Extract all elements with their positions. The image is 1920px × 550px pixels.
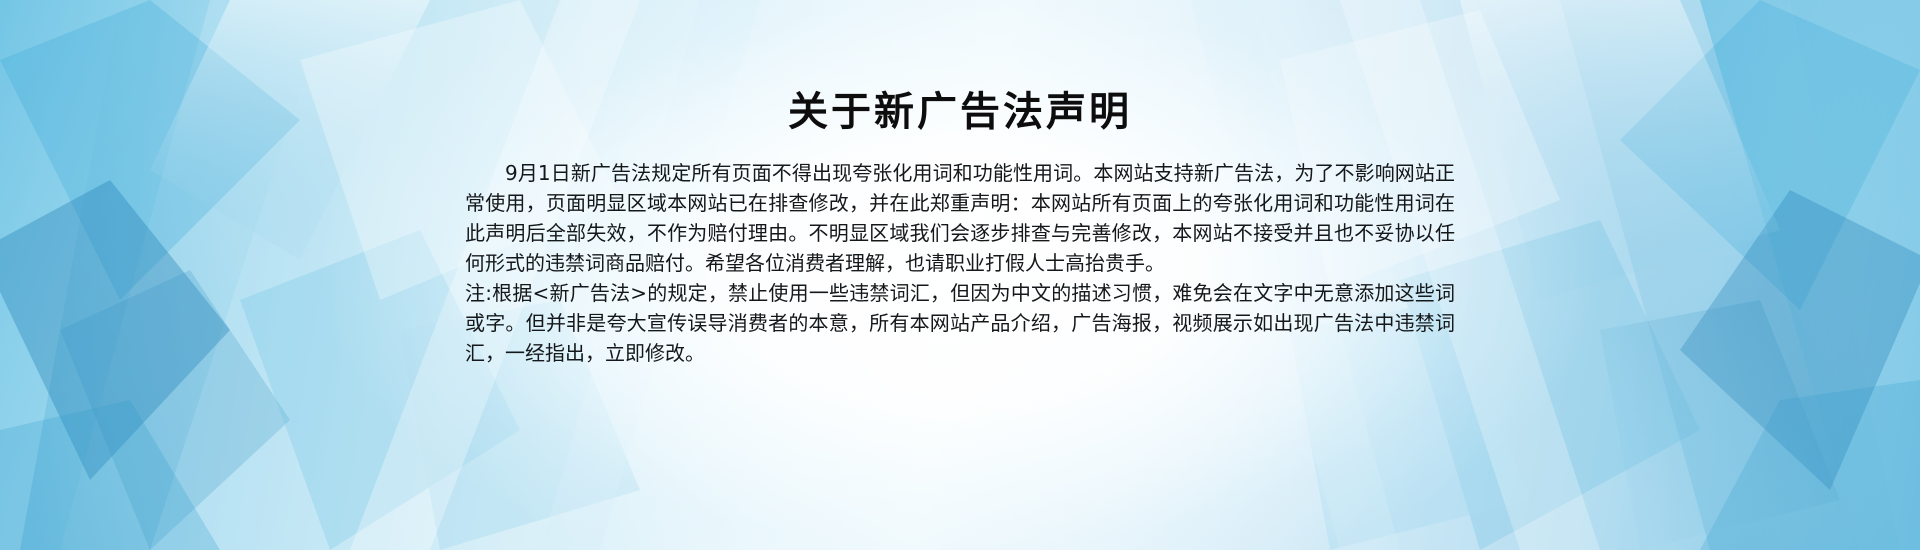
statement-paragraph-2: 注:根据<新广告法>的规定，禁止使用一些违禁词汇，但因为中文的描述习惯，难免会在… — [465, 278, 1455, 368]
banner-content: 关于新广告法声明 9月1日新广告法规定所有页面不得出现夸张化用词和功能性用词。本… — [0, 0, 1920, 550]
advertising-law-statement-banner: 关于新广告法声明 9月1日新广告法规定所有页面不得出现夸张化用词和功能性用词。本… — [0, 0, 1920, 550]
statement-paragraph-1: 9月1日新广告法规定所有页面不得出现夸张化用词和功能性用词。本网站支持新广告法，… — [465, 158, 1455, 278]
page-title: 关于新广告法声明 — [788, 88, 1132, 136]
statement-body: 9月1日新广告法规定所有页面不得出现夸张化用词和功能性用词。本网站支持新广告法，… — [465, 158, 1455, 368]
